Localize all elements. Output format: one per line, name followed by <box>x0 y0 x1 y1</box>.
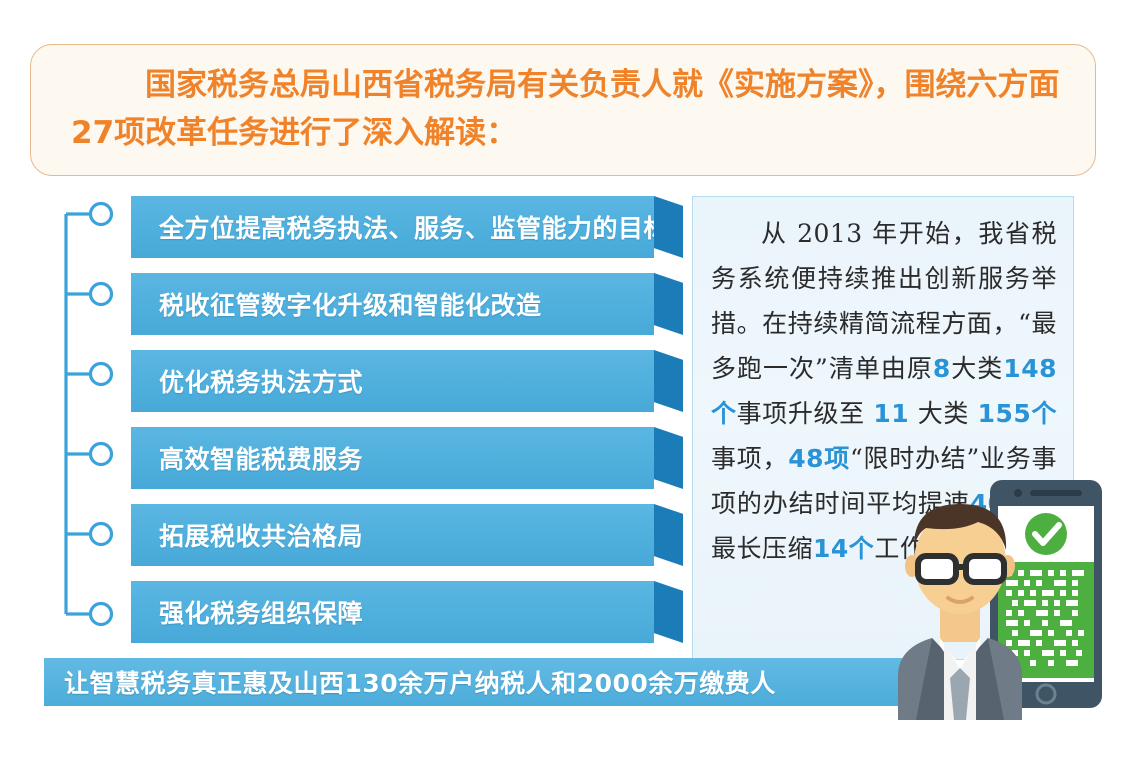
highlight-number: 个 <box>711 399 737 428</box>
illustration-group <box>878 470 1108 720</box>
task-banner-label: 优化税务执法方式 <box>159 363 363 399</box>
bottom-summary-banner[interactable]: 让智慧税务真正惠及山西130余万户纳税人和2000余万缴费人 <box>44 658 902 706</box>
task-banner-list: 全方位提高税务执法、服务、监管能力的目标 税收征管数字化升级和智能化改造 优化税… <box>131 196 683 658</box>
info-text-segment: 大类 <box>951 354 1004 383</box>
info-text-segment: 事项， <box>711 444 788 473</box>
highlight-number: 155 <box>978 399 1032 428</box>
title-card: 国家税务总局山西省税务局有关负责人就《实施方案》，围绕六方面27项改革任务进行了… <box>30 44 1096 176</box>
task-banner-4[interactable]: 高效智能税费服务 <box>131 427 683 489</box>
task-banner-label: 强化税务组织保障 <box>159 594 363 630</box>
banner-fold-shape <box>654 581 683 643</box>
highlight-number: 11 <box>873 399 909 428</box>
task-banner-label: 拓展税收共治格局 <box>159 517 363 553</box>
banner-fold-shape <box>654 504 683 566</box>
info-text-segment: 大类 <box>909 399 977 428</box>
page-title: 国家税务总局山西省税务局有关负责人就《实施方案》，围绕六方面27项改革任务进行了… <box>71 61 1071 157</box>
highlight-number: 个 <box>1031 399 1057 428</box>
info-text-segment: 2013 <box>797 219 863 248</box>
task-banner-2[interactable]: 税收征管数字化升级和智能化改造 <box>131 273 683 335</box>
highlight-number: 148 <box>1003 354 1057 383</box>
highlight-number: 8 <box>933 354 951 383</box>
task-banner-label: 税收征管数字化升级和智能化改造 <box>159 286 542 322</box>
connector-bracket <box>58 196 138 632</box>
task-banner-body[interactable]: 优化税务执法方式 <box>131 350 654 412</box>
task-banner-1[interactable]: 全方位提高税务执法、服务、监管能力的目标 <box>131 196 683 258</box>
highlight-number: 14个 <box>813 534 874 563</box>
task-banner-body[interactable]: 全方位提高税务执法、服务、监管能力的目标 <box>131 196 654 258</box>
task-banner-body[interactable]: 拓展税收共治格局 <box>131 504 654 566</box>
task-banner-label: 高效智能税费服务 <box>159 440 363 476</box>
banner-fold-shape <box>654 273 683 335</box>
banner-fold-shape <box>654 196 683 258</box>
task-banner-body[interactable]: 强化税务组织保障 <box>131 581 654 643</box>
info-text-segment: 事项升级至 <box>737 399 874 428</box>
banner-fold-shape <box>654 350 683 412</box>
bottom-banner-label: 让智慧税务真正惠及山西130余万户纳税人和2000余万缴费人 <box>64 664 776 700</box>
task-banner-body[interactable]: 高效智能税费服务 <box>131 427 654 489</box>
info-text-segment: 从 <box>761 219 797 248</box>
task-banner-3[interactable]: 优化税务执法方式 <box>131 350 683 412</box>
highlight-number: 48项 <box>788 444 850 473</box>
task-banner-body[interactable]: 税收征管数字化升级和智能化改造 <box>131 273 654 335</box>
task-banner-label: 全方位提高税务执法、服务、监管能力的目标 <box>159 209 669 245</box>
green-check-icon <box>1025 513 1067 555</box>
banner-fold-shape <box>654 427 683 489</box>
task-banner-6[interactable]: 强化税务组织保障 <box>131 581 683 643</box>
task-banner-5[interactable]: 拓展税收共治格局 <box>131 504 683 566</box>
